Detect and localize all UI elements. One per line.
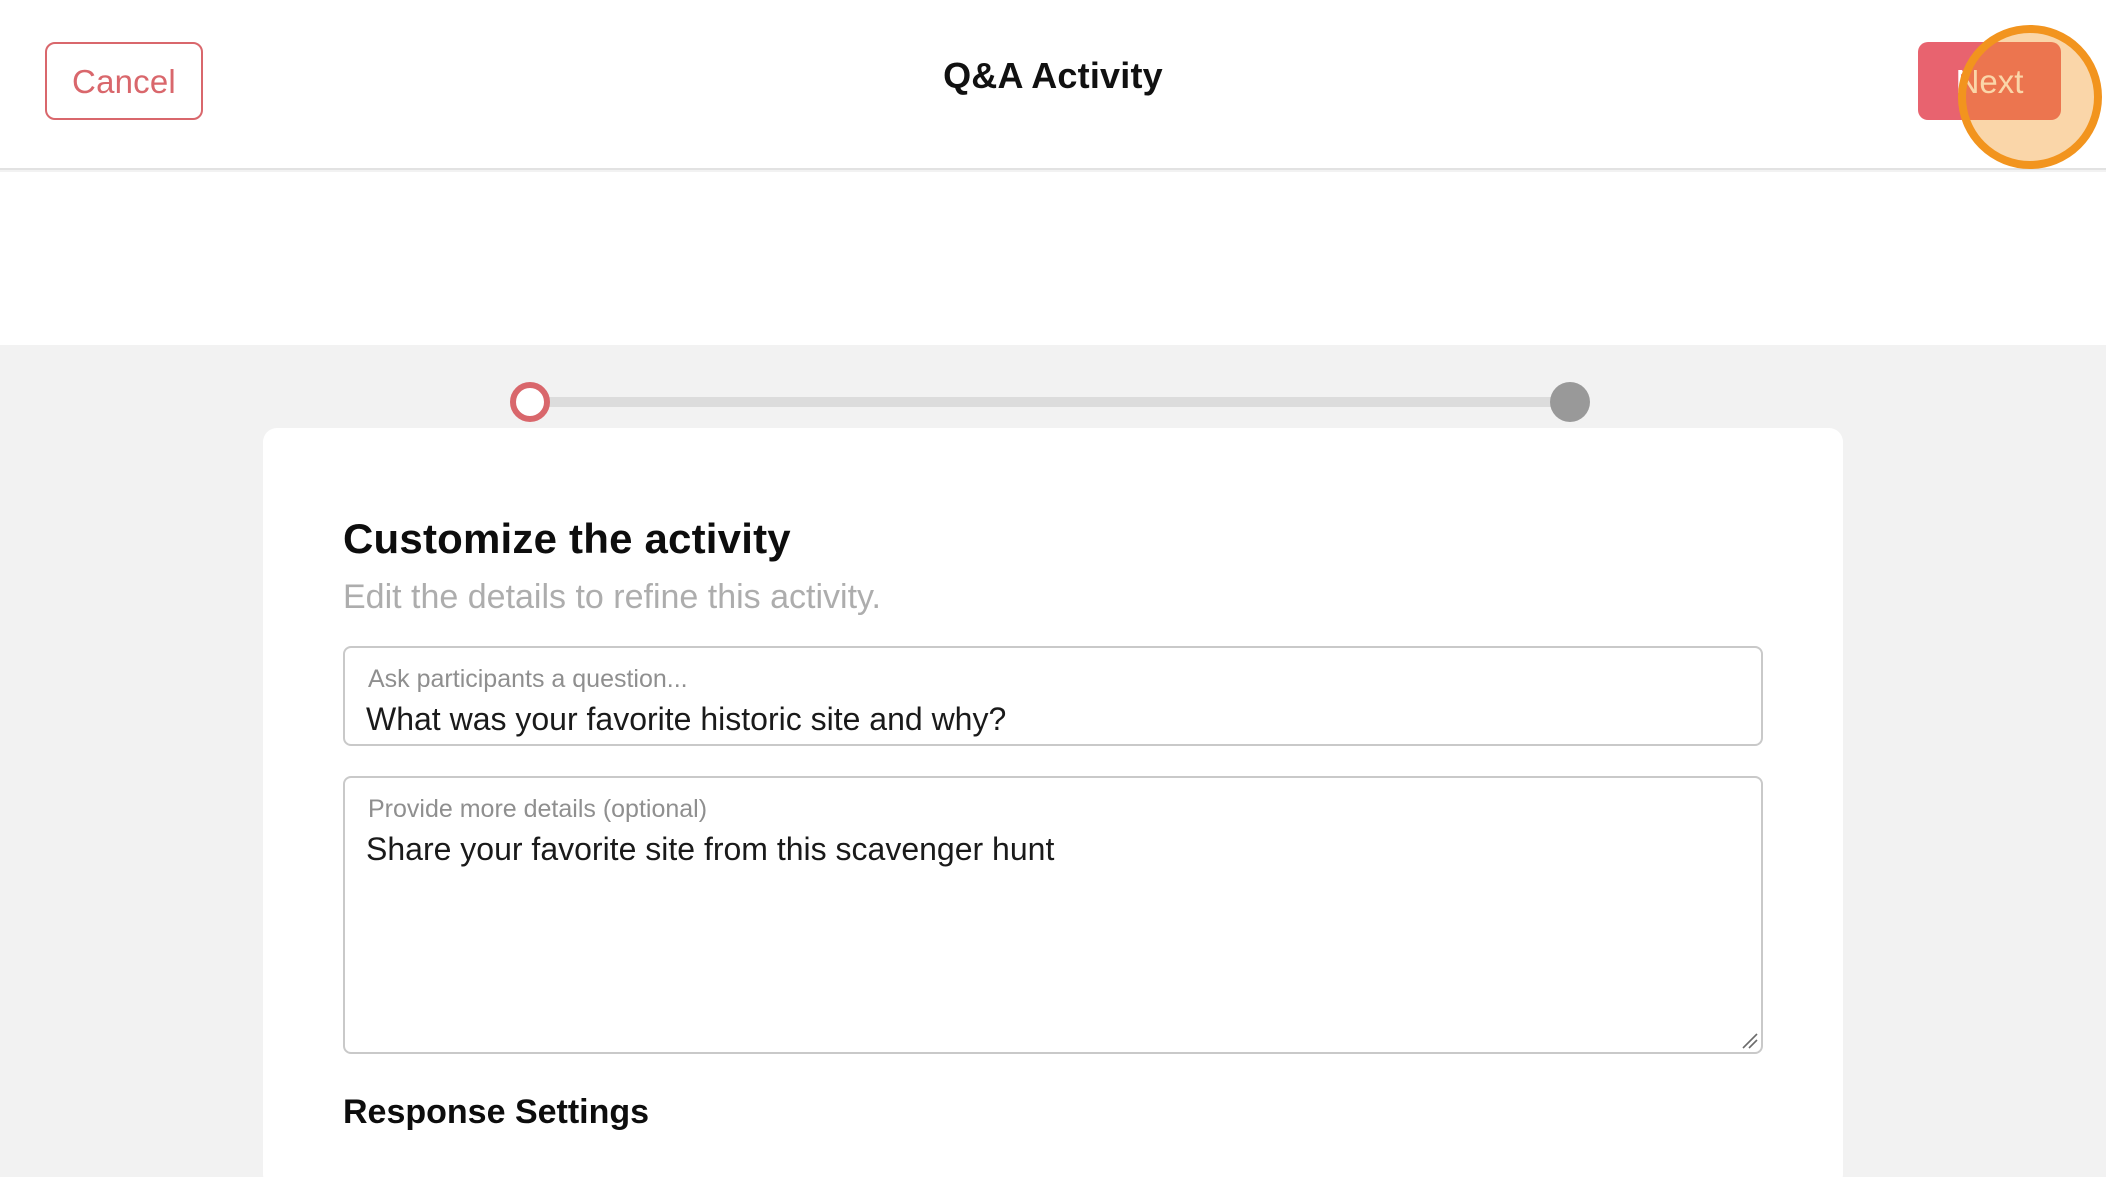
question-input[interactable]: Ask participants a question... What was … <box>343 646 1763 746</box>
next-button[interactable]: Next <box>1918 42 2061 120</box>
top-bar: Cancel Q&A Activity Next <box>0 0 2106 170</box>
response-settings-heading: Response Settings <box>343 1095 649 1129</box>
card-title: Customize the activity <box>343 518 791 560</box>
activity-editor-screen: Cancel Q&A Activity Next Details Incenti… <box>0 0 2106 1177</box>
progress-stepper: Details Incentives <box>0 172 2106 345</box>
details-textarea-value[interactable]: Share your favorite site from this scave… <box>366 833 1054 865</box>
details-textarea[interactable]: Provide more details (optional) Share yo… <box>343 776 1763 1054</box>
question-input-value[interactable]: What was your favorite historic site and… <box>366 703 1006 735</box>
step-dot-inactive-icon[interactable] <box>1550 382 1590 422</box>
page-title: Q&A Activity <box>0 58 2106 94</box>
details-textarea-label: Provide more details (optional) <box>368 797 707 822</box>
question-input-label: Ask participants a question... <box>368 667 688 692</box>
customize-activity-card: Customize the activity Edit the details … <box>263 428 1843 1177</box>
stepper-track <box>530 397 1570 407</box>
card-subtitle: Edit the details to refine this activity… <box>343 580 881 614</box>
step-dot-active-icon[interactable] <box>510 382 550 422</box>
resize-grip-icon[interactable] <box>1738 1029 1758 1049</box>
